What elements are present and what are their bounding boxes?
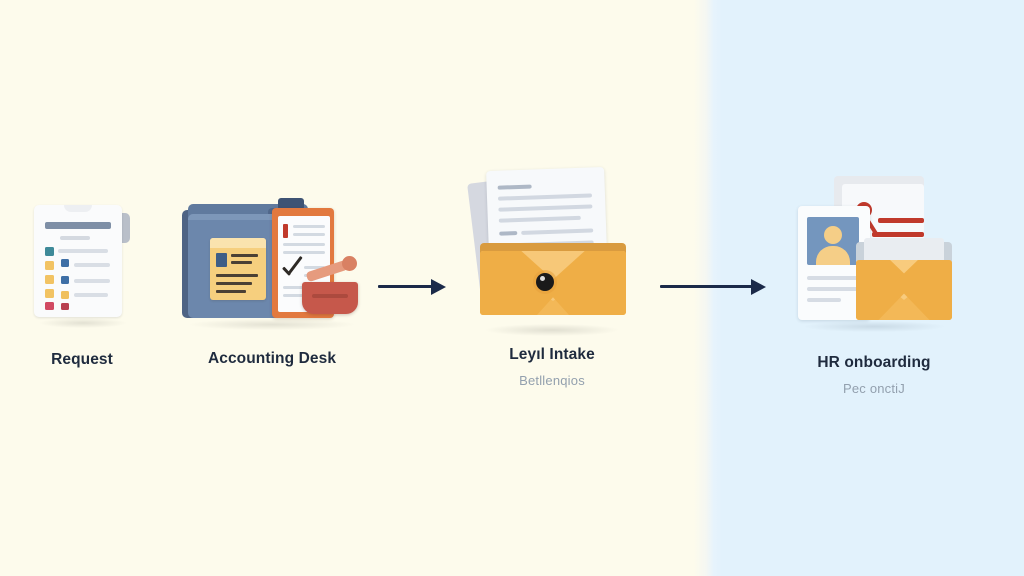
profile-card-envelope-icon (790, 176, 958, 326)
flow-step-legal-intake[interactable]: Leyıl Intake Betllenqios (472, 165, 632, 388)
folders-clipboard-stamp-icon (182, 194, 362, 324)
flow-step-sublabel: Betllenqios (472, 373, 632, 388)
flow-step-accounting-desk[interactable]: Accounting Desk (182, 194, 362, 377)
flow-step-label: Leyıl Intake (472, 346, 632, 364)
checkmark-icon (282, 254, 306, 278)
flow-steps: Request (0, 0, 1024, 576)
flow-step-hr-onboarding[interactable]: HR onboarding Pec onctiJ (790, 176, 958, 396)
flow-step-label: Request (12, 351, 152, 369)
avatar (807, 217, 859, 265)
arrow-right-icon-1 (378, 275, 446, 299)
document-checklist-icon (34, 205, 130, 323)
flow-step-sublabel: Pec onctiJ (790, 381, 958, 396)
envelope-seal-icon (536, 273, 554, 291)
flow-step-request[interactable]: Request (12, 205, 152, 378)
flow-step-label: Accounting Desk (182, 350, 362, 368)
diagram-canvas: Request (0, 0, 1024, 576)
open-envelope-letter-icon (472, 165, 632, 320)
flow-step-label: HR onboarding (790, 354, 958, 372)
arrow-right-icon-2 (660, 275, 770, 299)
